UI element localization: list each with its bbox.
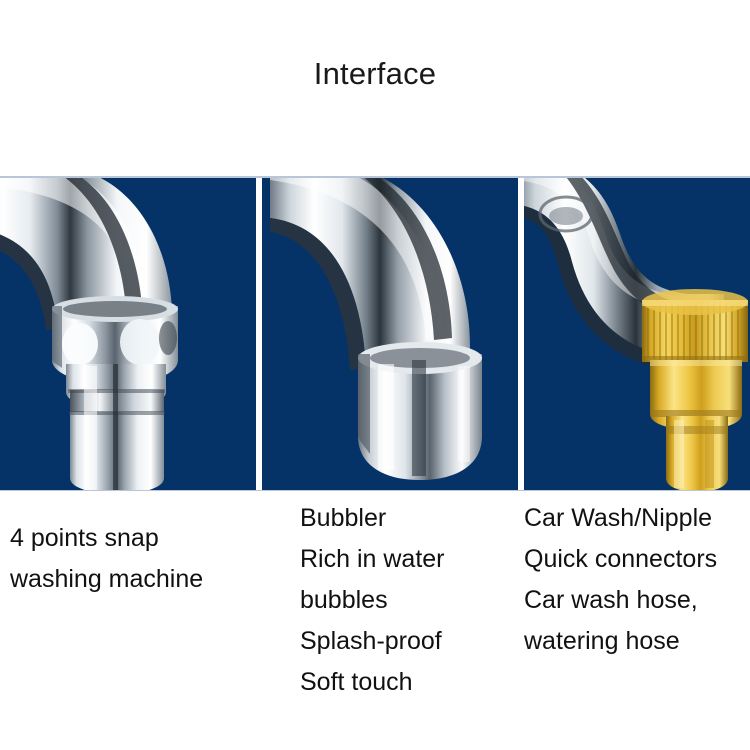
- caption-line: 4 points snap: [10, 518, 203, 559]
- caption-line: Car wash hose,: [524, 580, 717, 621]
- page-title: Interface: [0, 54, 750, 94]
- caption-car-wash-nipple: Car Wash/Nipple Quick connectors Car was…: [524, 490, 717, 662]
- product-image-strip: [0, 178, 750, 490]
- caption-line: Soft touch: [300, 662, 445, 703]
- caption-line: Bubbler: [300, 498, 445, 539]
- caption-line: Splash-proof: [300, 621, 445, 662]
- caption-line: bubbles: [300, 580, 445, 621]
- caption-bubbler: Bubbler Rich in water bubbles Splash-pro…: [300, 490, 445, 703]
- caption-line: Quick connectors: [524, 539, 717, 580]
- caption-4-points-snap: 4 points snap washing machine: [10, 490, 203, 600]
- caption-row: 4 points snap washing machine Bubbler Ri…: [0, 490, 750, 750]
- faucet-brass-quick-connector-illustration: [524, 178, 750, 490]
- caption-line: Car Wash/Nipple: [524, 498, 717, 539]
- caption-line: watering hose: [524, 621, 717, 662]
- faucet-bubbler-illustration: [262, 178, 518, 490]
- faucet-snap-connector-illustration: [0, 178, 256, 490]
- caption-line: washing machine: [10, 559, 203, 600]
- product-image-car-wash-nipple: [524, 178, 750, 490]
- caption-line: Rich in water: [300, 539, 445, 580]
- product-image-4-points-snap: [0, 178, 256, 490]
- product-image-bubbler: [262, 178, 518, 490]
